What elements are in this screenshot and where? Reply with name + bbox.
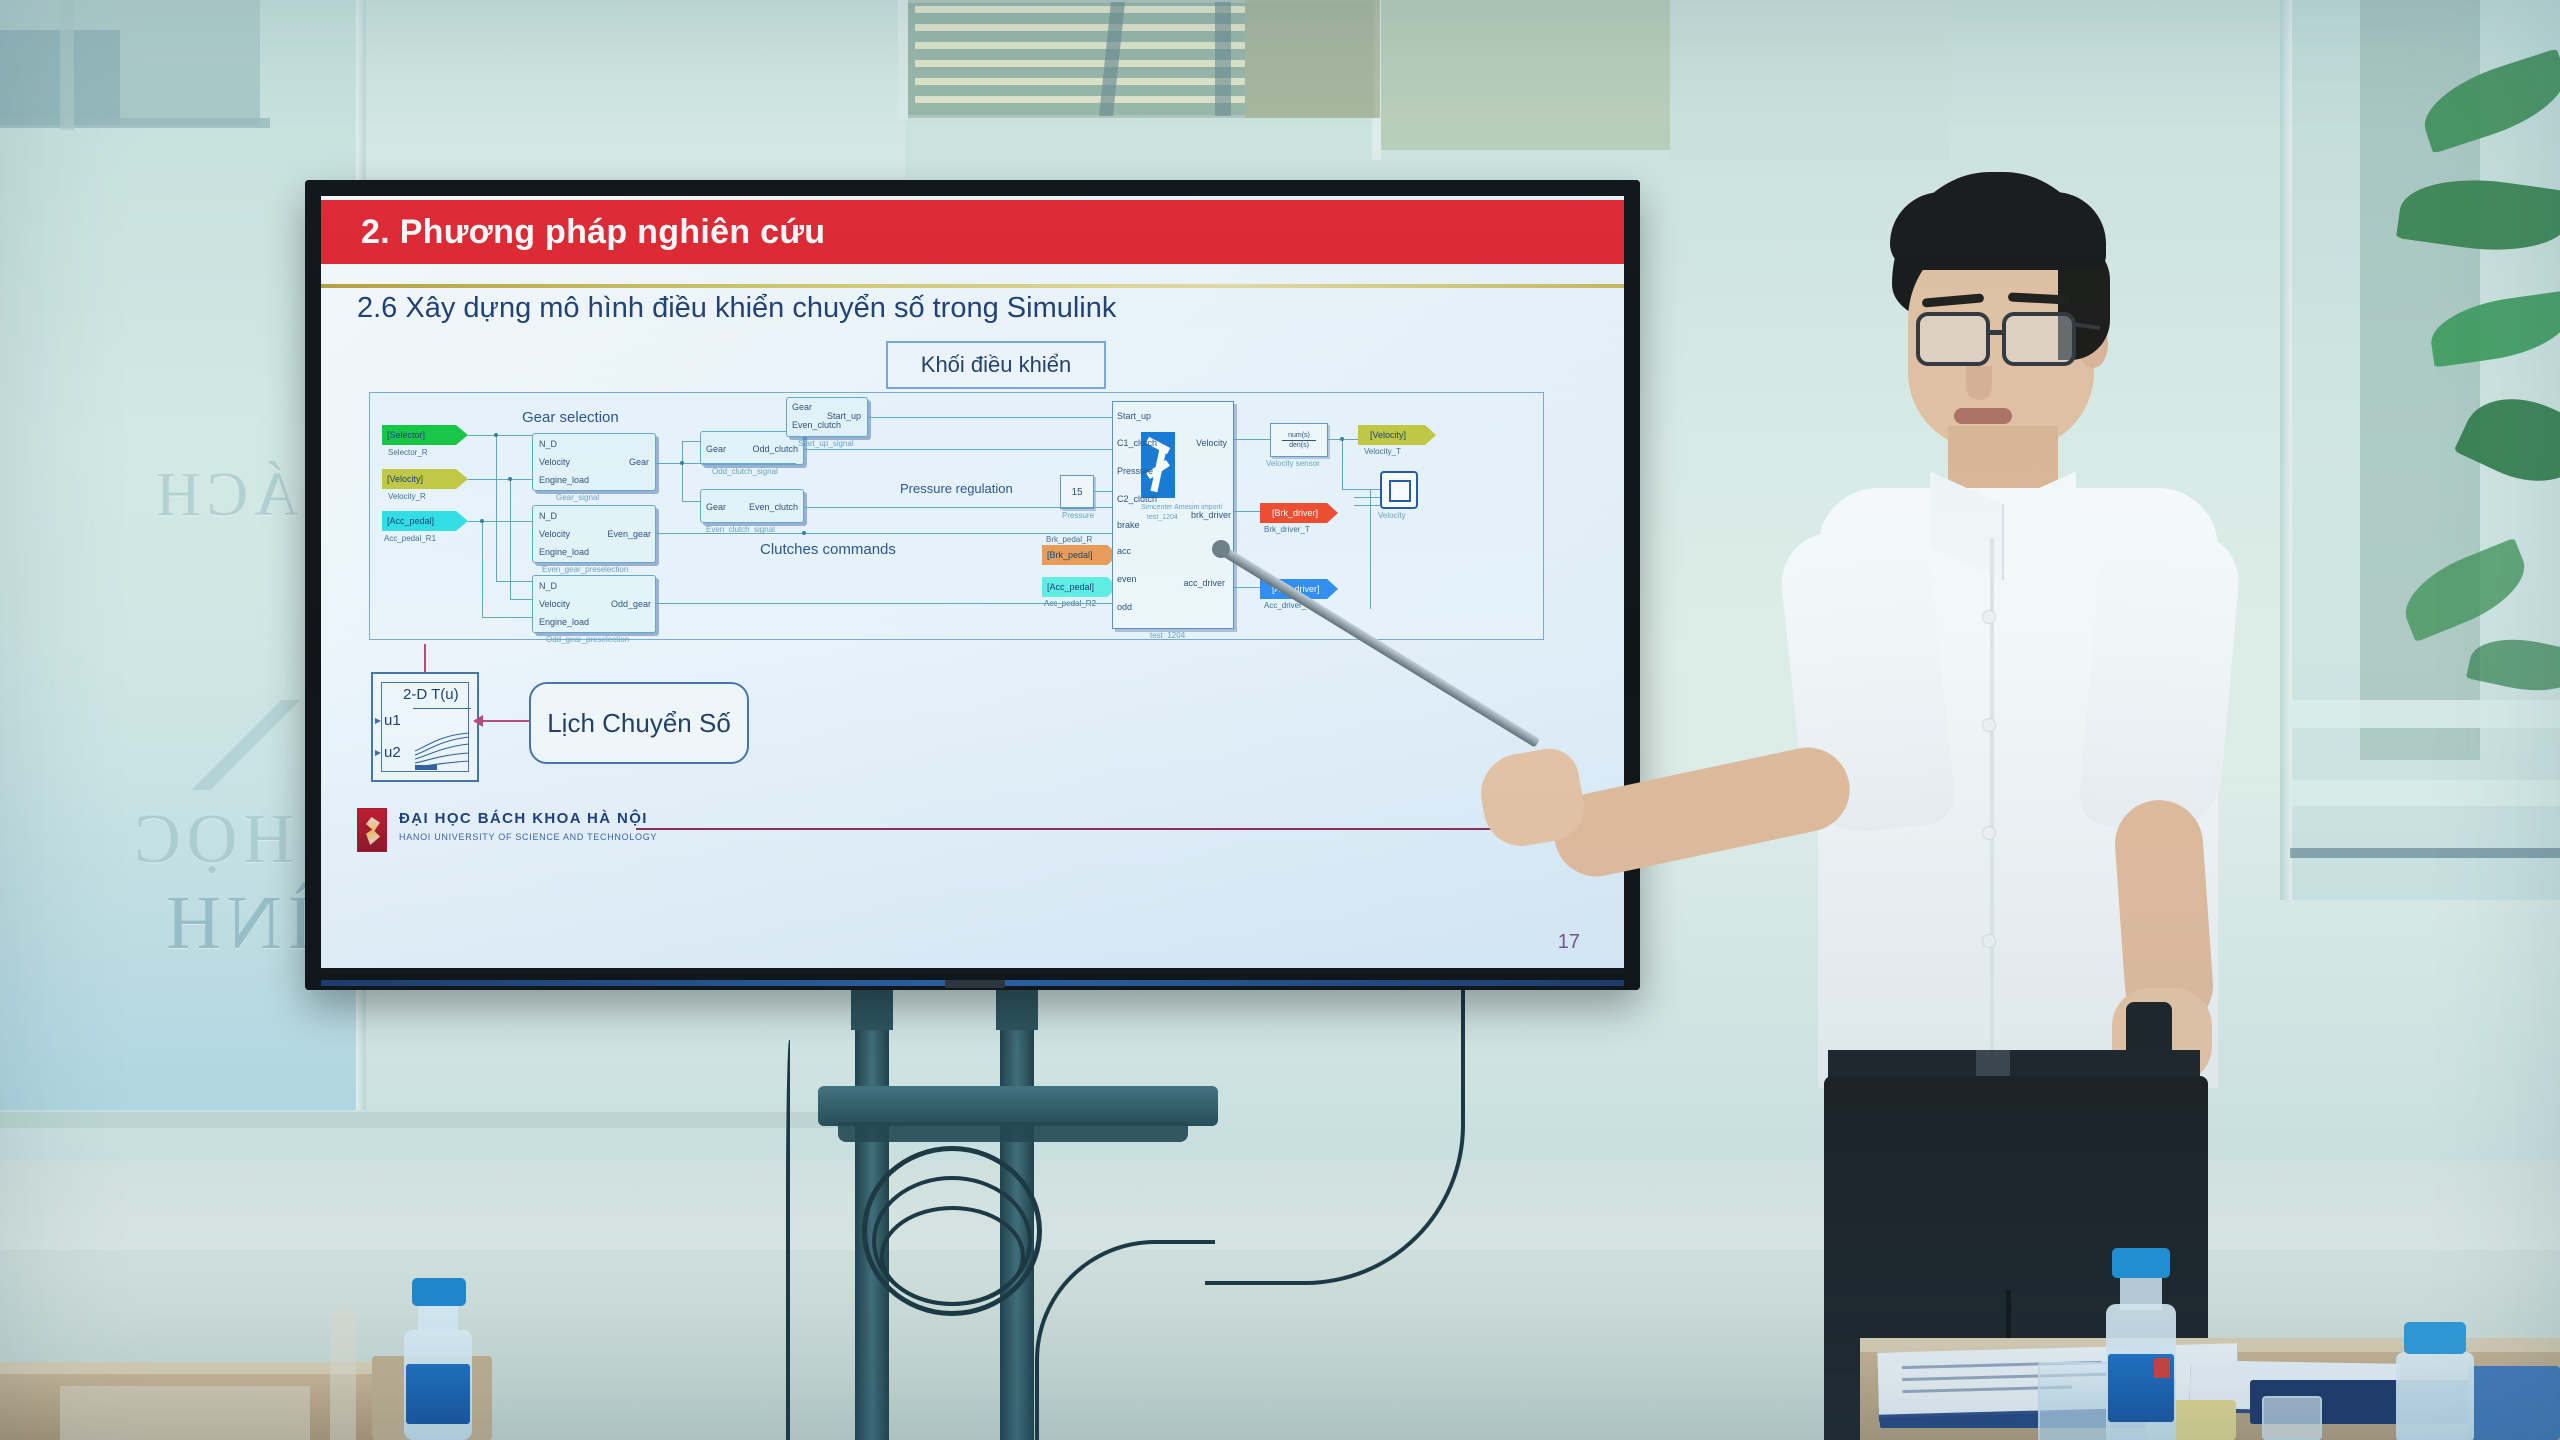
tv-stand-collar-left	[851, 988, 893, 1030]
upper-glass-panel-right	[1380, 0, 1670, 150]
baseboard	[0, 1112, 900, 1128]
presenter-nose	[1966, 366, 1992, 400]
upper-left-strip	[0, 118, 270, 128]
upper-glass-panel-far-right	[1670, 0, 1950, 160]
water-bottle-left	[400, 1278, 476, 1440]
upper-glass-panel	[360, 0, 905, 178]
tv-bezel	[305, 180, 1640, 990]
presenter-sleeve-left	[2077, 524, 2243, 835]
presenter	[1740, 170, 2360, 1440]
display-tv[interactable]: 2. Phương pháp nghiên cứu 2.6 Xây dựng m…	[305, 180, 1640, 990]
coiled-cable	[880, 1206, 1025, 1306]
shirt-button	[1982, 610, 1996, 624]
tv-stand-shelf-lip	[838, 1122, 1188, 1142]
tv-brand-badge	[945, 980, 1005, 988]
presenter-glasses-left-lens	[1916, 312, 1990, 366]
mullion	[60, 0, 74, 130]
shirt-button	[1982, 826, 1996, 840]
window-right-pane	[1245, 0, 1380, 118]
shirt-button	[1982, 718, 1996, 732]
small-cup	[2262, 1396, 2322, 1440]
blue-bag	[2468, 1366, 2560, 1440]
window-blinds	[915, 2, 1245, 116]
presenter-glasses-right-lens	[2002, 312, 2076, 366]
stand-cable-left	[786, 1040, 794, 1440]
tv-stand-collar-right	[996, 988, 1038, 1030]
left-table-papers	[60, 1386, 310, 1440]
shirt-button	[1982, 934, 1996, 948]
presenter-glasses-bridge	[1988, 330, 2006, 335]
left-table-object	[330, 1310, 356, 1440]
window-edge	[898, 0, 908, 120]
presentation-room-scene: BÁCH HỌC BÌNH 2. Phương pháp nghiên cứu	[0, 0, 2560, 1440]
etched-logo-mark	[186, 700, 306, 790]
etched-text-line2: HỌC	[128, 800, 294, 880]
tv-stand-shelf	[818, 1086, 1218, 1126]
window-post-2	[1215, 2, 1231, 116]
water-glass	[2038, 1362, 2110, 1440]
water-bottle-center	[2102, 1248, 2180, 1440]
presenter-fringe	[1890, 192, 2106, 270]
presenter-mouth	[1954, 408, 2012, 424]
pointer-tip-icon	[1212, 540, 1230, 558]
water-bottle-right	[2390, 1322, 2480, 1440]
